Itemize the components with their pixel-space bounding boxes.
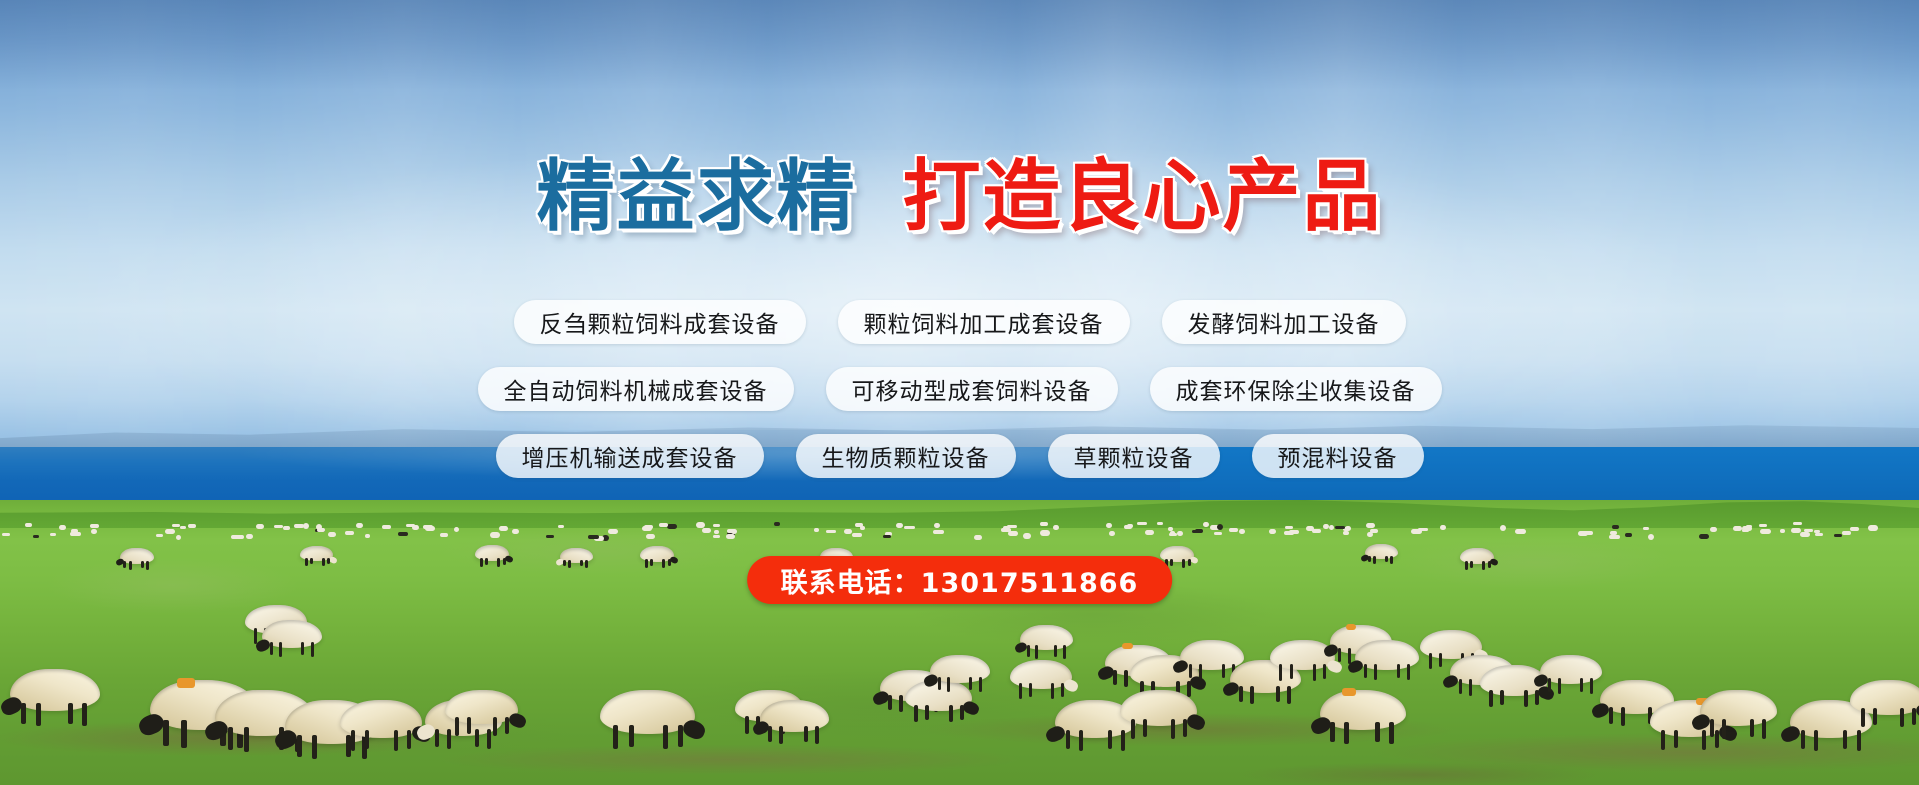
sheep [300,546,333,572]
distant-flock [0,522,1919,538]
sheep [1365,544,1398,570]
headline-red-text: 打造良心产品 [903,152,1383,242]
sheep [930,655,990,703]
page-title: 精益求精打造良心产品 [0,158,1919,236]
sheep [640,546,674,573]
sheep [1320,690,1406,758]
sheep [1460,548,1494,575]
hero-banner: 精益求精打造良心产品 反刍颗粒饲料成套设备 颗粒饲料加工成套设备 发酵饲料加工设… [0,0,1919,785]
product-pill-booster-conveying-equipment[interactable]: 增压机输送成套设备 [496,434,764,478]
product-category-list: 反刍颗粒饲料成套设备 颗粒饲料加工成套设备 发酵饲料加工设备 全自动饲料机械成套… [0,300,1919,478]
product-pill-mobile-feed-equipment[interactable]: 可移动型成套饲料设备 [826,367,1118,411]
sheep [1540,655,1602,704]
sheep [1120,690,1197,751]
product-pill-automatic-feed-machinery[interactable]: 全自动饲料机械成套设备 [478,367,794,411]
sheep [10,669,100,740]
sheep [1700,690,1777,751]
product-pill-pellet-feed-processing[interactable]: 颗粒饲料加工成套设备 [838,300,1130,344]
product-pill-premix-equipment[interactable]: 预混料设备 [1252,434,1424,478]
sheep [475,545,509,572]
product-pill-biomass-pellet-equipment[interactable]: 生物质颗粒设备 [796,434,1016,478]
product-pill-dust-collection-equipment[interactable]: 成套环保除尘收集设备 [1150,367,1442,411]
sheep [1480,665,1547,718]
sheep [1020,625,1073,668]
sky-top-shade [0,0,1919,90]
product-pill-grass-pellet-equipment[interactable]: 草颗粒设备 [1048,434,1220,478]
product-row-1: 反刍颗粒饲料成套设备 颗粒饲料加工成套设备 发酵饲料加工设备 [514,300,1406,344]
sheep [760,700,829,754]
sheep [340,700,422,765]
product-pill-ruminant-pellet-feed[interactable]: 反刍颗粒饲料成套设备 [514,300,806,344]
product-row-3: 增压机输送成套设备 生物质颗粒设备 草颗粒设备 预混料设备 [496,434,1424,478]
headline-blue-text: 精益求精 [536,152,856,242]
sheep [120,548,154,575]
product-pill-fermented-feed-processing[interactable]: 发酵饲料加工设备 [1162,300,1406,344]
sheep [1850,680,1919,740]
sheep [560,548,593,574]
sheep [445,690,518,748]
sheep [262,620,322,668]
product-row-2: 全自动饲料机械成套设备 可移动型成套饲料设备 成套环保除尘收集设备 [478,367,1442,411]
sheep [1355,640,1419,691]
contact-phone-badge[interactable]: 联系电话：13017511866 [747,556,1173,604]
sheep [600,690,695,765]
